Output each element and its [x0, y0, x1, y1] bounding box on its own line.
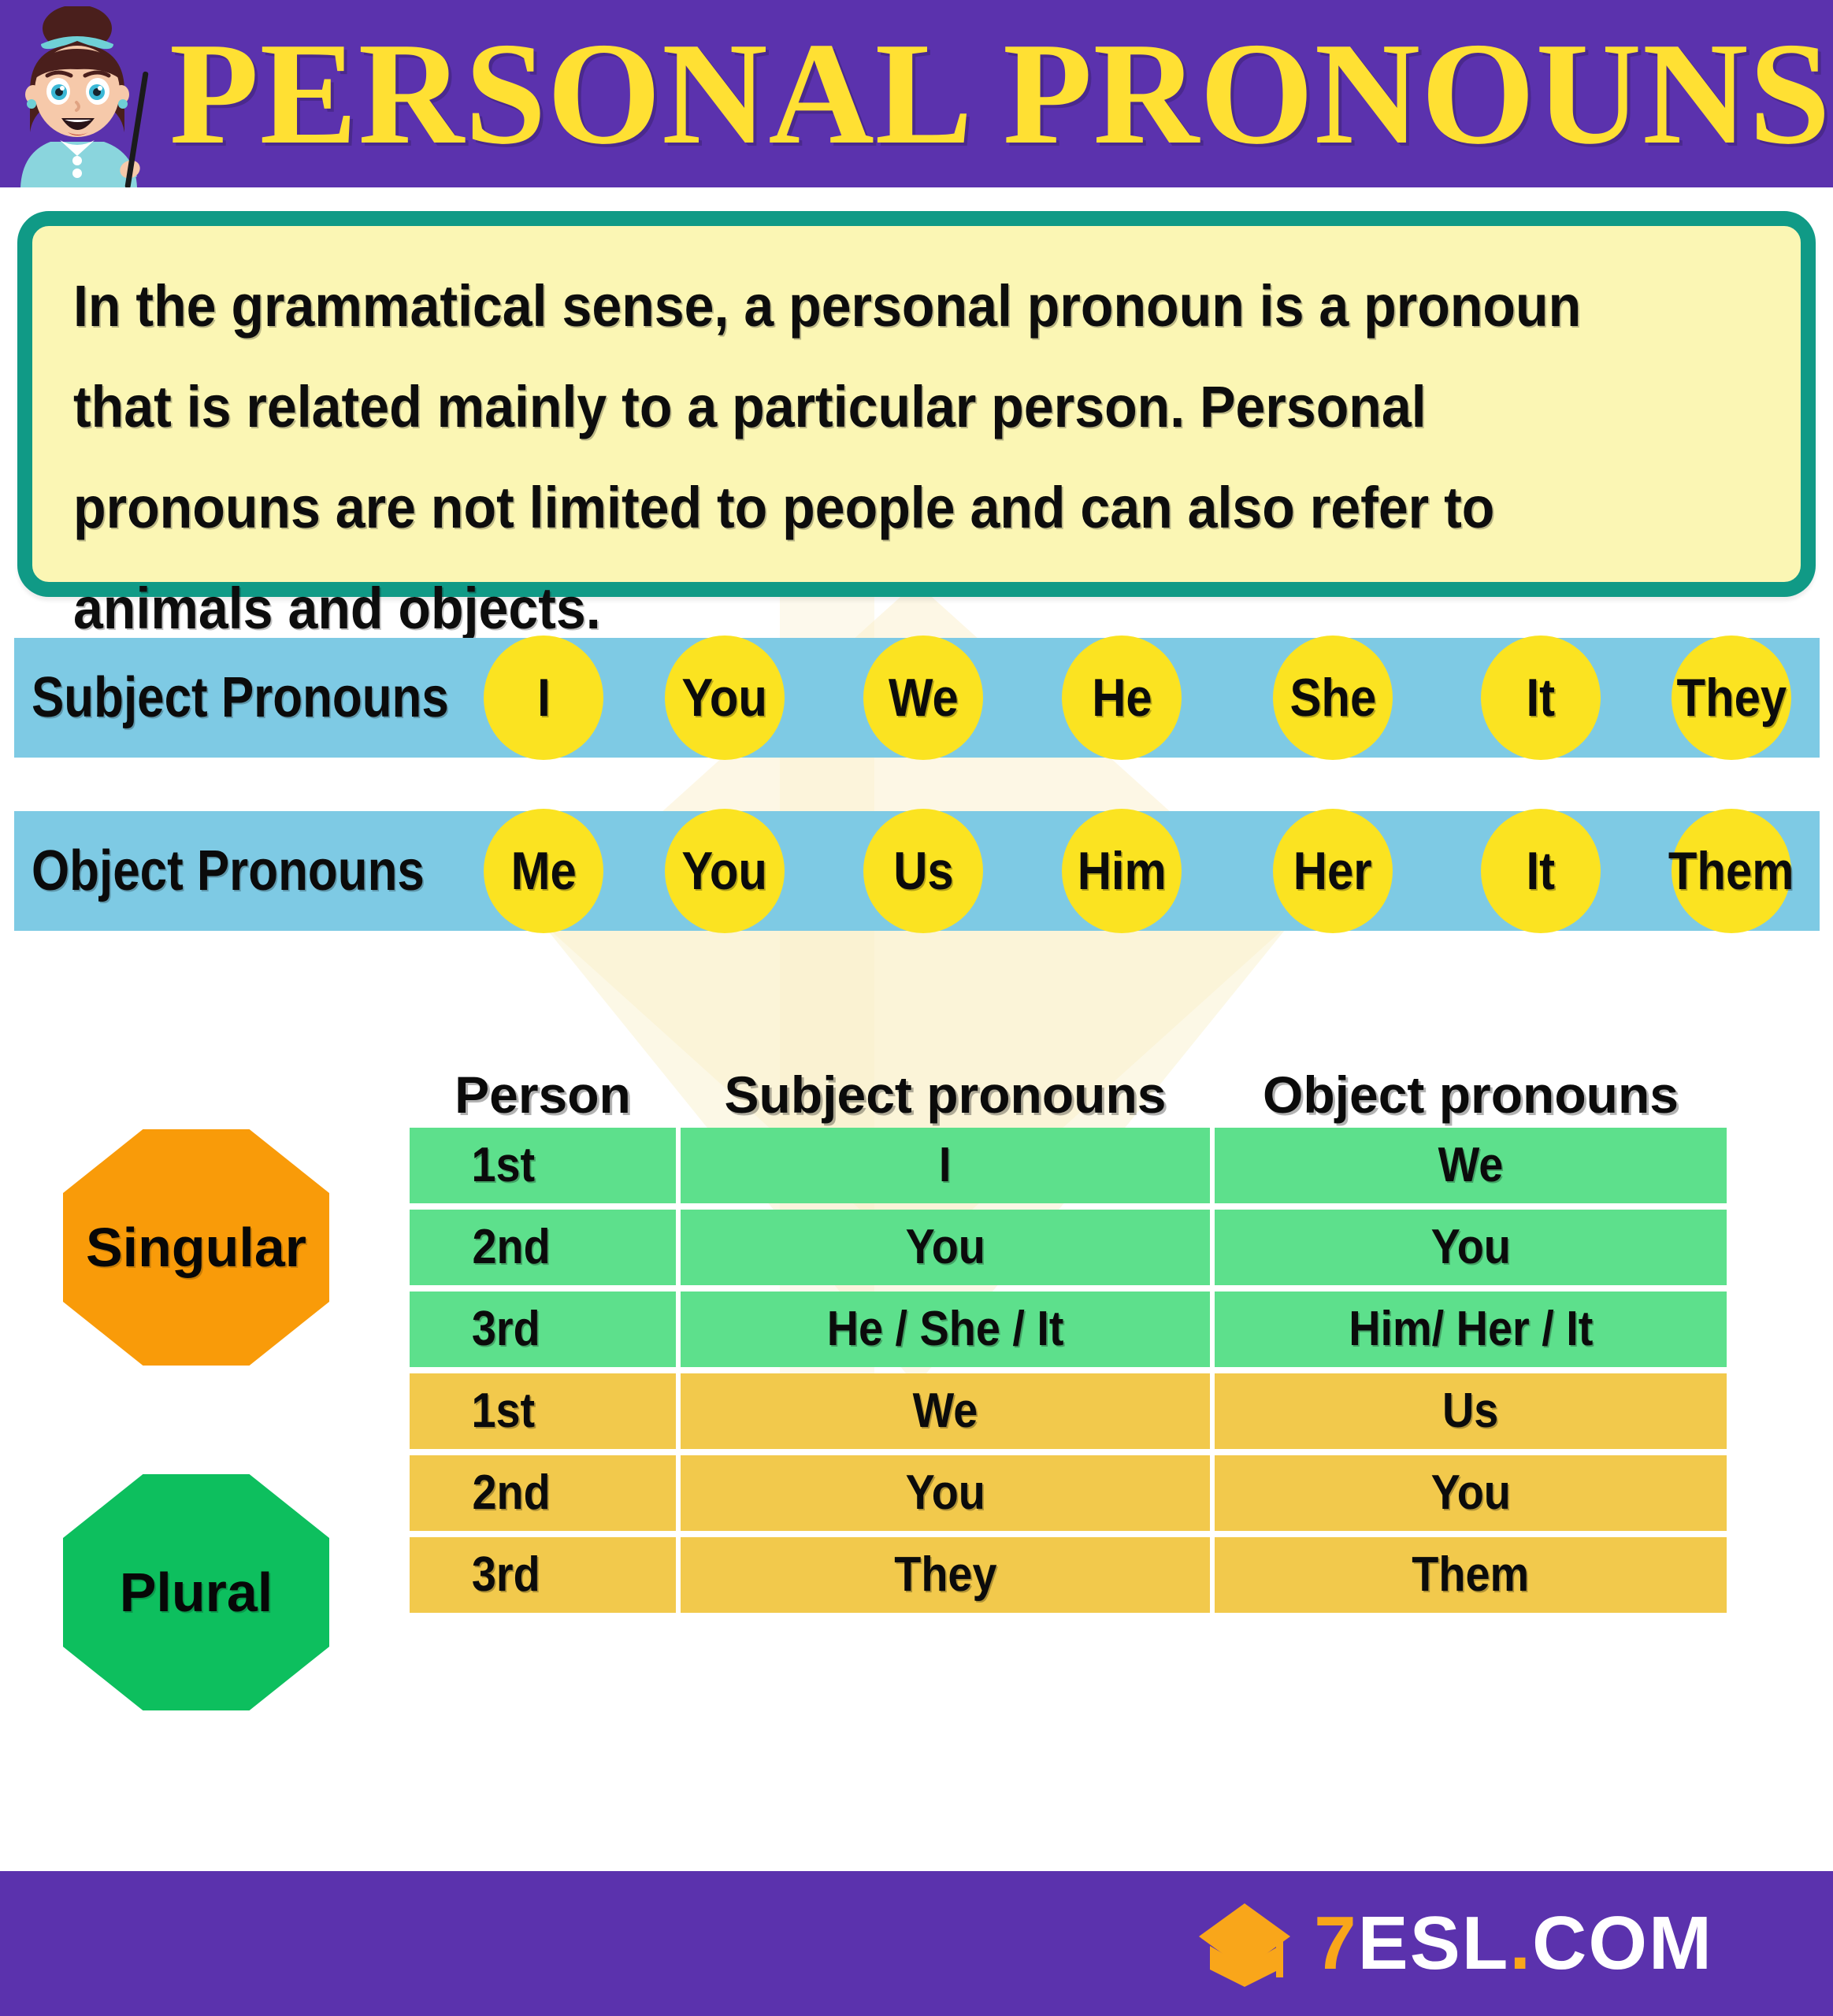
cell-subject: I: [681, 1128, 1210, 1203]
logo-com: COM: [1532, 1901, 1713, 1985]
subject-pronouns-label: Subject Pronouns: [32, 669, 449, 726]
cell-object: You: [1215, 1210, 1727, 1285]
graduation-cap-icon: [1194, 1900, 1295, 1987]
table-row: 2nd You You: [410, 1210, 1727, 1285]
pronoun-bubble[interactable]: You: [665, 809, 785, 933]
page-title: PERSONAL PRONOUNS: [169, 6, 1792, 181]
cell-person: 2nd: [410, 1455, 676, 1531]
cell-person: 3rd: [410, 1291, 676, 1367]
cell-subject: You: [681, 1455, 1210, 1531]
pronoun-bubble[interactable]: You: [665, 636, 785, 760]
pronoun-bubble[interactable]: She: [1273, 636, 1393, 760]
table-row: 3rd They Them: [410, 1537, 1727, 1613]
cell-person: 1st: [410, 1373, 676, 1449]
object-pronouns-band: Object Pronouns Me You Us Him Her It The…: [14, 811, 1820, 931]
pronoun-bubble[interactable]: Her: [1273, 809, 1393, 933]
cell-object: Them: [1215, 1537, 1727, 1613]
page-footer: 7ESL.COM: [0, 1871, 1833, 2016]
teacher-character-icon: [2, 6, 169, 187]
cell-subject: He / She / It: [681, 1291, 1210, 1367]
badge-singular: Singular: [63, 1129, 329, 1366]
description-text: In the grammatical sense, a personal pro…: [73, 256, 1625, 659]
pronoun-bubble[interactable]: Them: [1672, 809, 1791, 933]
pronoun-bubble[interactable]: I: [484, 636, 603, 760]
column-header-object: Object pronouns: [1215, 1041, 1727, 1123]
table-row: 3rd He / She / It Him/ Her / It: [410, 1291, 1727, 1367]
description-box: In the grammatical sense, a personal pro…: [17, 211, 1816, 597]
pronoun-bubble[interactable]: He: [1062, 636, 1182, 760]
cell-object: You: [1215, 1455, 1727, 1531]
pronoun-bubble[interactable]: We: [863, 636, 983, 760]
cell-person: 2nd: [410, 1210, 676, 1285]
table-row: 2nd You You: [410, 1455, 1727, 1531]
badge-singular-label: Singular: [86, 1220, 306, 1275]
badge-plural-label: Plural: [120, 1565, 273, 1620]
pronoun-bubble[interactable]: Me: [484, 809, 603, 933]
object-pronouns-label: Object Pronouns: [32, 843, 425, 899]
pronoun-bubble[interactable]: Us: [863, 809, 983, 933]
pronouns-table: 1st I We 2nd You You 3rd He / She / It H…: [410, 1128, 1727, 1619]
cell-subject: We: [681, 1373, 1210, 1449]
table-row: 1st I We: [410, 1128, 1727, 1203]
cell-object: Us: [1215, 1373, 1727, 1449]
infographic-page: PERSONAL PRONOUNS: [0, 0, 1833, 2016]
badge-plural: Plural: [63, 1474, 329, 1710]
cell-person: 3rd: [410, 1537, 676, 1613]
logo-wordmark: 7ESL.COM: [1314, 1906, 1713, 1981]
site-logo[interactable]: 7ESL.COM: [1194, 1900, 1713, 1987]
page-header: PERSONAL PRONOUNS: [0, 0, 1833, 187]
pronoun-bubble[interactable]: They: [1672, 636, 1791, 760]
pronoun-bubble[interactable]: It: [1481, 809, 1601, 933]
subject-pronouns-band: Subject Pronouns I You We He She It They: [14, 638, 1820, 758]
column-header-person: Person: [410, 1041, 676, 1123]
table-header-row: Person Subject pronouns Object pronouns: [410, 1041, 1727, 1123]
cell-subject: You: [681, 1210, 1210, 1285]
logo-seven: 7: [1314, 1901, 1357, 1985]
logo-esl: ESL: [1358, 1901, 1510, 1985]
cell-object: We: [1215, 1128, 1727, 1203]
cell-subject: They: [681, 1537, 1210, 1613]
cell-object: Him/ Her / It: [1215, 1291, 1727, 1367]
logo-dot: .: [1509, 1901, 1532, 1985]
pronoun-bubble[interactable]: It: [1481, 636, 1601, 760]
column-header-subject: Subject pronouns: [681, 1041, 1210, 1123]
table-row: 1st We Us: [410, 1373, 1727, 1449]
pronoun-bubble[interactable]: Him: [1062, 809, 1182, 933]
cell-person: 1st: [410, 1128, 676, 1203]
